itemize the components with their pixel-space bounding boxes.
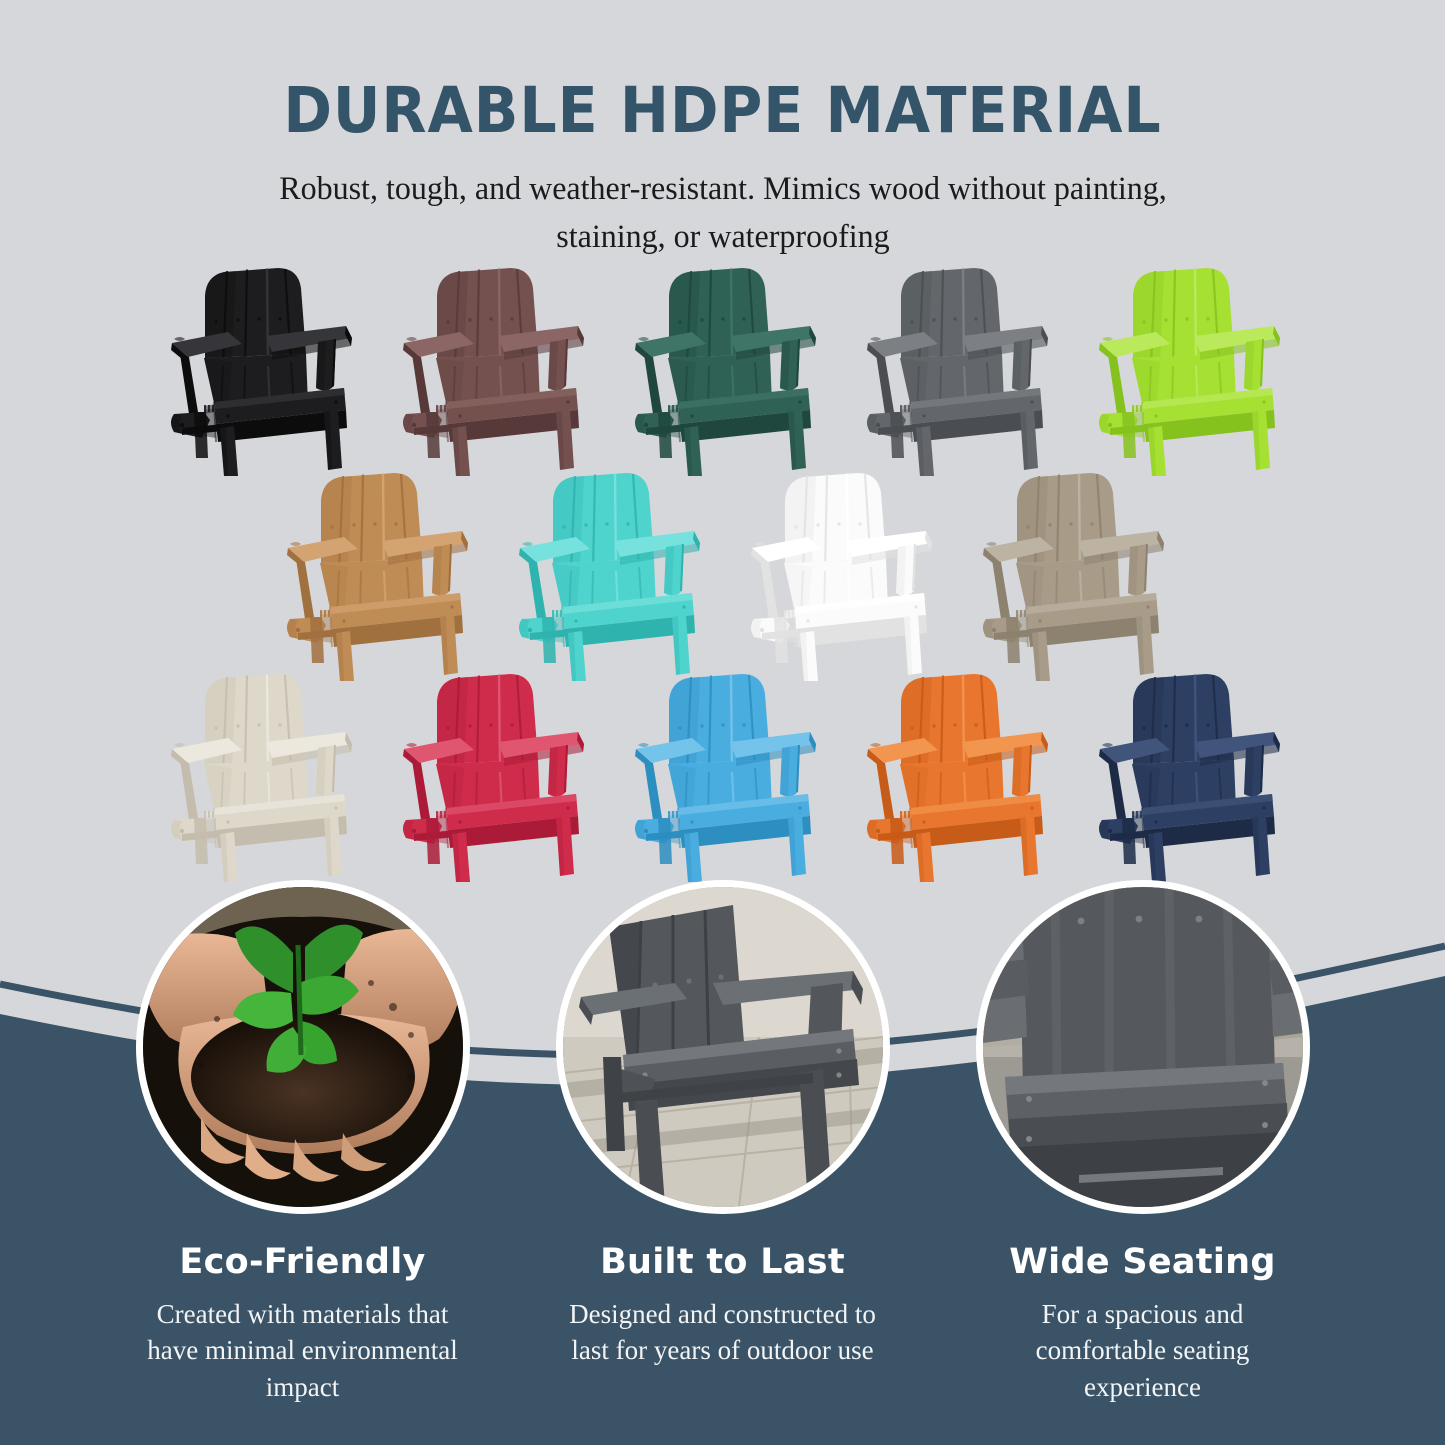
chair-swatch-white[interactable] [738,467,946,682]
infographic-canvas: DURABLE HDPE MATERIAL Robust, tough, and… [0,0,1445,1445]
chair-swatch-teak-tan[interactable] [274,467,482,682]
chair-row-1 [0,262,1445,477]
feature-description: For a spacious and comfortable seating e… [973,1296,1313,1405]
chair-swatch-gray[interactable] [854,262,1062,477]
chair-row-2 [0,467,1445,682]
features-section: Eco-FriendlyCreated with materials that … [0,880,1445,1405]
feature-row: Eco-FriendlyCreated with materials that … [0,880,1445,1405]
chair-swatch-weathered-khaki[interactable] [970,467,1178,682]
header: DURABLE HDPE MATERIAL Robust, tough, and… [0,0,1445,262]
chair-swatch-black[interactable] [158,262,366,477]
chair-swatch-orange[interactable] [854,668,1062,883]
chair-row-3 [0,668,1445,883]
feature-wide-seating: Wide SeatingFor a spacious and comfortab… [973,880,1313,1405]
page-subtitle: Robust, tough, and weather-resistant. Mi… [233,166,1213,262]
feature-description: Designed and constructed to last for yea… [553,1296,893,1369]
chair-color-grid [0,262,1445,883]
feature-title: Wide Seating [973,1242,1313,1282]
chair-swatch-navy-blue[interactable] [1086,668,1294,883]
chair-swatch-ivory[interactable] [158,668,366,883]
chair-swatch-light-blue[interactable] [622,668,830,883]
chair-swatch-red[interactable] [390,668,598,883]
feature-description: Created with materials that have minimal… [133,1296,473,1405]
feature-title: Built to Last [553,1242,893,1282]
chair-swatch-brown[interactable] [390,262,598,477]
feature-title: Eco-Friendly [133,1242,473,1282]
feature-eco-friendly: Eco-FriendlyCreated with materials that … [133,880,473,1405]
closeup-of-wide-chair-seat-photo [976,880,1310,1214]
gray-adirondack-chair-on-patio-photo [556,880,890,1214]
page-title: DURABLE HDPE MATERIAL [51,0,1395,144]
hands-holding-soil-with-seedling-photo [136,880,470,1214]
feature-built-to-last: Built to LastDesigned and constructed to… [553,880,893,1405]
chair-swatch-lime-green[interactable] [1086,262,1294,477]
chair-swatch-dark-green[interactable] [622,262,830,477]
chair-swatch-turquoise[interactable] [506,467,714,682]
